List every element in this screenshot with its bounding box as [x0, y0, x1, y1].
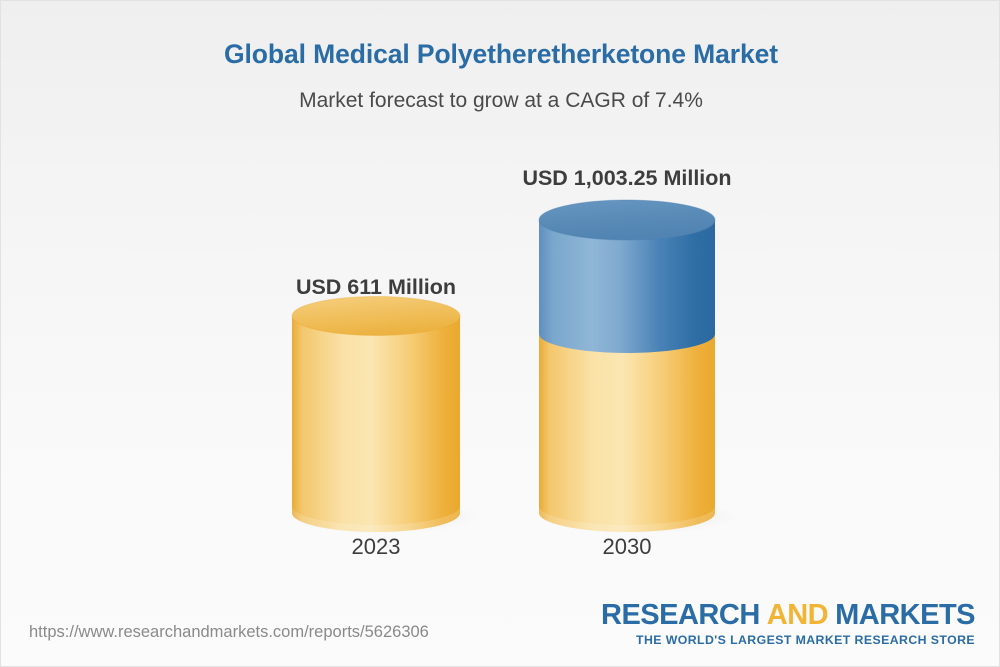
- brand-logo[interactable]: RESEARCHANDMARKETS THE WORLD'S LARGEST M…: [601, 601, 975, 647]
- logo-word-and: AND: [767, 599, 828, 631]
- bar-2023[interactable]: [289, 297, 479, 535]
- value-label-2030: USD 1,003.25 Million: [447, 166, 807, 191]
- bar-2030[interactable]: [539, 200, 738, 534]
- chart-poster: Global Medical Polyetheretherketone Mark…: [0, 0, 1000, 667]
- source-url[interactable]: https://www.researchandmarkets.com/repor…: [29, 623, 429, 642]
- chart-plot-area: USD 611 Million USD 1,003.25 Million 202…: [1, 1, 1000, 667]
- logo-wordmark: RESEARCHANDMARKETS: [601, 601, 975, 631]
- value-label-2023: USD 611 Million: [196, 275, 556, 300]
- cylinder-bars-graphic: [1, 1, 1000, 667]
- logo-word-markets: MARKETS: [835, 599, 975, 631]
- logo-tagline: THE WORLD'S LARGEST MARKET RESEARCH STOR…: [601, 633, 975, 647]
- logo-word-research: RESEARCH: [601, 599, 760, 631]
- category-label-2030: 2030: [477, 534, 777, 560]
